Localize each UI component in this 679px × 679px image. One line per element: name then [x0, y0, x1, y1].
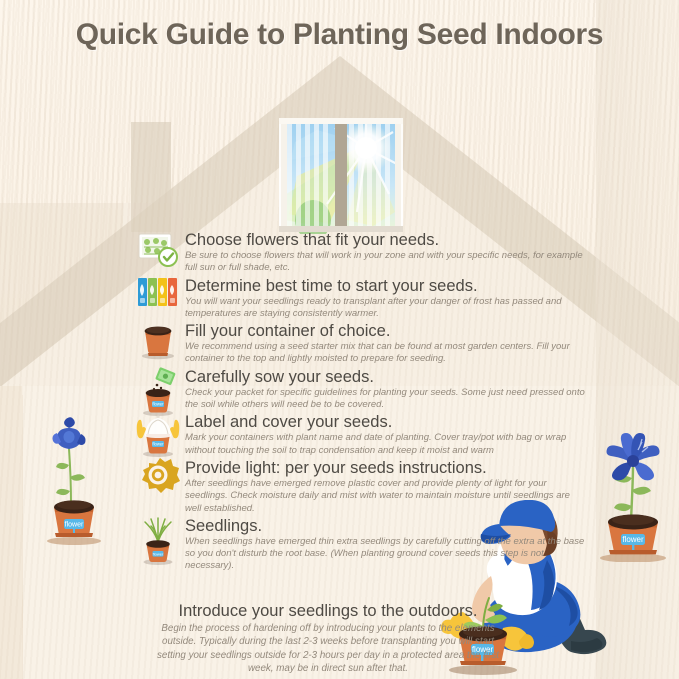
sun-light-icon [135, 456, 181, 502]
step-item: flower Carefully sow your seeds. Check y… [135, 367, 585, 412]
step-body: When seedlings have emerged thin extra s… [185, 536, 585, 573]
step-heading: Carefully sow your seeds. [185, 367, 585, 387]
footer-heading: Introduce your seedlings to the outdoors… [128, 600, 528, 622]
seedlings-pot-icon: flower [135, 514, 181, 560]
filled-pot-icon [135, 319, 181, 365]
step-item: Determine best time to start your seeds.… [135, 276, 585, 321]
step-body: You will want your seedlings ready to tr… [185, 296, 585, 321]
potted-blue-flower-small: flower [40, 415, 108, 550]
footer-body: Begin the process of hardening off by in… [128, 622, 528, 676]
step-item: Choose flowers that fit your needs. Be s… [135, 230, 585, 275]
page-title: Quick Guide to Planting Seed Indoors [0, 18, 679, 52]
step-item: Provide light: per your seeds instructio… [135, 458, 585, 515]
seed-catalog-icon [135, 228, 181, 274]
svg-text:flower: flower [153, 551, 164, 556]
step-heading: Fill your container of choice. [185, 321, 585, 341]
step-body: Be sure to choose flowers that will work… [185, 250, 585, 275]
step-body: Mark your containers with plant name and… [185, 432, 585, 457]
step-item: flower Label and cover your seeds. Mark … [135, 412, 585, 457]
footer-section: Introduce your seedlings to the outdoors… [128, 600, 528, 676]
steps-list: Choose flowers that fit your needs. Be s… [135, 230, 585, 574]
label-cover-icon: flower [135, 410, 181, 456]
sunny-window-illustration [277, 116, 405, 234]
seed-packets-icon [135, 274, 181, 320]
sowing-seeds-icon: flower [135, 365, 181, 411]
svg-text:flower: flower [65, 522, 84, 529]
step-item: flower Seedlings. When seedlings have em… [135, 516, 585, 573]
step-heading: Choose flowers that fit your needs. [185, 230, 585, 250]
step-body: We recommend using a seed starter mix th… [185, 341, 585, 366]
infographic-poster: Quick Guide to Planting Seed Indoors [0, 0, 679, 679]
house-wall-left-edge [0, 386, 22, 679]
svg-text:flower: flower [152, 401, 164, 406]
step-heading: Provide light: per your seeds instructio… [185, 458, 585, 478]
step-heading: Seedlings. [185, 516, 585, 536]
svg-text:flower: flower [152, 442, 164, 447]
step-body: Check your packet for specific guideline… [185, 387, 585, 412]
step-body: After seedlings have emerged remove plas… [185, 478, 585, 515]
step-item: Fill your container of choice. We recomm… [135, 321, 585, 366]
step-heading: Determine best time to start your seeds. [185, 276, 585, 296]
step-heading: Label and cover your seeds. [185, 412, 585, 432]
